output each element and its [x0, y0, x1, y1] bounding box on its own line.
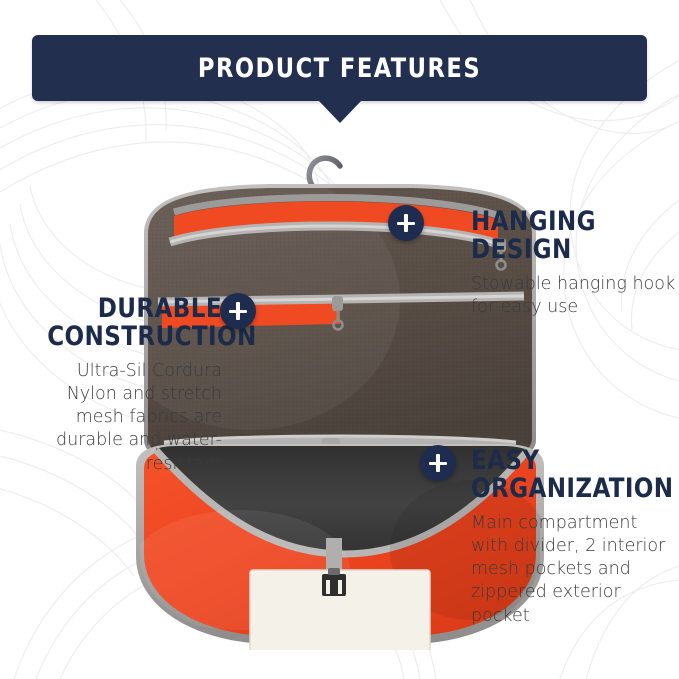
- plus-badge-hanging-design[interactable]: [388, 205, 424, 241]
- plus-badge-easy-organization[interactable]: [420, 445, 456, 481]
- callout-durable-construction: DURABLE CONSTRUCTION Ultra-Sil Cordura N…: [38, 295, 222, 476]
- callout-heading-easy-organization: EASY ORGANIZATION: [471, 447, 657, 503]
- plus-badge-durable-construction[interactable]: [220, 293, 256, 329]
- callout-heading-hanging-design: HANGING DESIGN: [471, 208, 666, 264]
- callout-body-durable-construction: Ultra-Sil Cordura Nylon and stretch mesh…: [38, 360, 222, 476]
- infographic-canvas: PRODUCT FEATURES: [0, 0, 679, 679]
- callout-body-easy-organization: Main compartment with divider, 2 interio…: [471, 512, 667, 628]
- header-banner: PRODUCT FEATURES: [32, 35, 647, 101]
- callout-body-hanging-design: Stowable hanging hook for easy use: [471, 273, 676, 320]
- callout-heading-durable-construction: DURABLE CONSTRUCTION: [47, 295, 222, 351]
- callout-hanging-design: HANGING DESIGN Stowable hanging hook for…: [471, 208, 676, 319]
- banner-pointer-triangle: [318, 100, 362, 123]
- callout-easy-organization: EASY ORGANIZATION Main compartment with …: [471, 447, 667, 628]
- page-title: PRODUCT FEATURES: [54, 35, 626, 101]
